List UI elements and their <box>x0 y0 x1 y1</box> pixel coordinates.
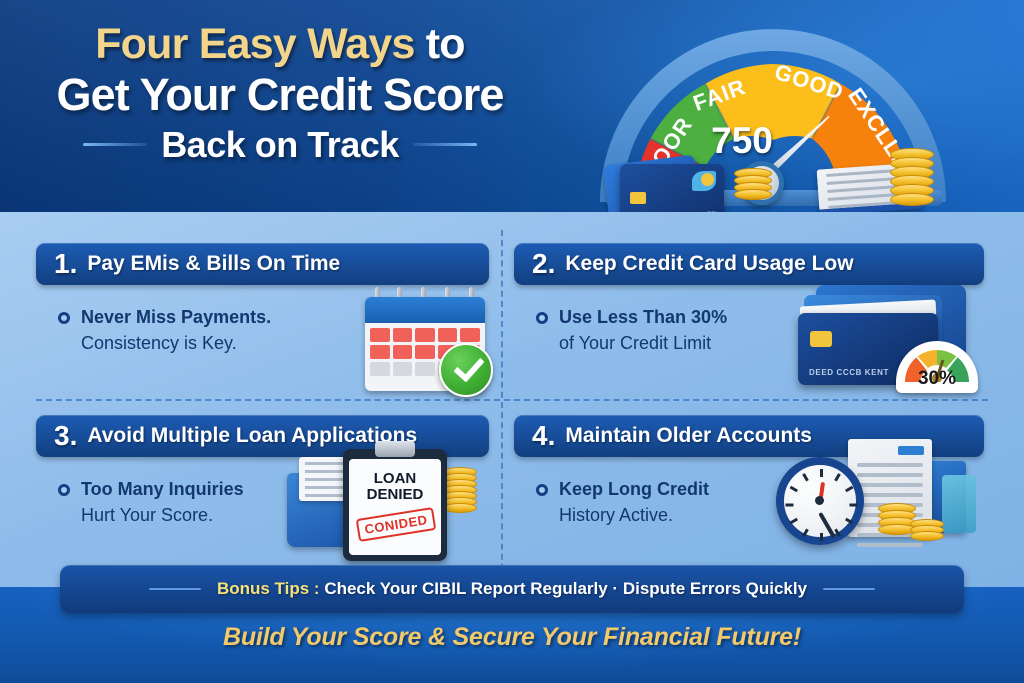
tip-card-2[interactable]: 2. Keep Credit Card Usage Low Use Less T… <box>514 243 984 393</box>
bullet-icon <box>536 484 548 496</box>
clock-icon <box>776 457 864 545</box>
bonus-rule-left-icon <box>149 588 201 590</box>
tip-3-body: Too Many Inquiries Hurt Your Score. <box>81 477 244 528</box>
clipboard-text: LOAN DENIED <box>349 471 441 503</box>
bullet-icon <box>58 484 70 496</box>
title-line-3-row: Back on Track <box>0 124 560 166</box>
card-chip-icon <box>630 192 646 204</box>
clipboard-sheet: LOAN DENIED CONIDED <box>349 459 441 555</box>
clock-center-icon <box>815 496 824 505</box>
header-banner: Four Easy Ways to Get Your Credit Score … <box>0 0 1024 212</box>
tip-4-body: Keep Long Credit History Active. <box>559 477 709 528</box>
tip-card-3[interactable]: 3. Avoid Multiple Loan Applications Too … <box>36 415 489 565</box>
tip-2-body-line2: of Your Credit Limit <box>559 333 711 353</box>
infographic-page: Four Easy Ways to Get Your Credit Score … <box>0 0 1024 683</box>
bonus-tips-label: Bonus Tips : <box>217 579 320 598</box>
credit-card-front-icon: CREDD CKT! E EIENT ‖‖ <box>620 164 724 212</box>
coin-stack-icon <box>443 471 477 513</box>
clipboard-line-1: LOAN <box>374 470 417 487</box>
page-title: Four Easy Ways to Get Your Credit Score … <box>0 22 560 166</box>
card-chip-icon <box>810 331 832 347</box>
bonus-tips-body: Check Your CIBIL Report Regularly · Disp… <box>324 579 807 598</box>
tip-1-number: 1. <box>54 250 77 278</box>
card-label: DEED CCCB KENT <box>809 368 889 377</box>
tip-4-body-line2: History Active. <box>559 505 673 525</box>
tip-card-4[interactable]: 4. Maintain Older Accounts Keep Long Cre… <box>514 415 984 565</box>
coin-stack-small-icon <box>910 523 944 541</box>
coin-stack-tall-icon <box>890 152 934 206</box>
divider-horizontal <box>36 399 988 401</box>
header-props: CREDD CKT! E EIENT ‖‖ <box>592 150 972 212</box>
checkmark-icon <box>439 343 493 397</box>
tip-2-number: 2. <box>532 250 555 278</box>
coin-stack-icon <box>734 172 772 200</box>
tip-4-body-line1: Keep Long Credit <box>559 479 709 499</box>
loan-denied-clipboard-icon: LOAN DENIED CONIDED <box>287 441 473 565</box>
usage-gauge-badge: 30% <box>896 341 978 393</box>
card-dot-icon <box>701 173 714 186</box>
bullet-icon <box>536 312 548 324</box>
title-rule-left-icon <box>83 143 147 146</box>
calendar-icon <box>361 287 489 391</box>
tip-1-header: 1. Pay EMis & Bills On Time <box>36 243 489 285</box>
tagline: Build Your Score & Secure Your Financial… <box>0 623 1024 652</box>
tip-1-heading: Pay EMis & Bills On Time <box>87 252 340 276</box>
card-network-icon: ‖‖ <box>707 210 716 212</box>
folder-secondary-icon <box>942 475 976 533</box>
tip-2-body: Use Less Than 30% of Your Credit Limit <box>559 305 727 356</box>
usage-percent-label: 30% <box>896 368 978 390</box>
clipboard-clip-icon <box>375 441 415 457</box>
title-rule-right-icon <box>413 143 477 146</box>
calendar-header-icon <box>365 297 485 323</box>
tip-3-body-line2: Hurt Your Score. <box>81 505 213 525</box>
clipboard-icon: LOAN DENIED CONIDED <box>343 449 447 561</box>
bonus-tips-text: Bonus Tips : Check Your CIBIL Report Reg… <box>217 579 807 599</box>
tip-card-1[interactable]: 1. Pay EMis & Bills On Time Never Miss P… <box>36 243 489 393</box>
divider-vertical <box>501 230 503 580</box>
bonus-rule-right-icon <box>823 588 875 590</box>
tip-3-number: 3. <box>54 422 77 450</box>
tip-1-body: Never Miss Payments. Consistency is Key. <box>81 305 271 356</box>
tip-1-body-line2: Consistency is Key. <box>81 333 237 353</box>
title-line-3: Back on Track <box>161 124 399 166</box>
clipboard-line-2: DENIED <box>367 486 424 503</box>
tip-3-body-line1: Too Many Inquiries <box>81 479 244 499</box>
title-line-1: Four Easy Ways to <box>0 22 560 68</box>
title-line-1-suffix: to <box>426 20 465 68</box>
tip-4-number: 4. <box>532 422 555 450</box>
bonus-tips-banner: Bonus Tips : Check Your CIBIL Report Reg… <box>60 565 964 613</box>
tip-1-body-line1: Never Miss Payments. <box>81 307 271 327</box>
credit-cards-icon: DEED CCCB KENT 30% <box>798 283 970 393</box>
title-highlight: Four Easy Ways <box>95 20 414 68</box>
document-tag-icon <box>898 446 924 455</box>
bullet-icon <box>58 312 70 324</box>
tip-2-heading: Keep Credit Card Usage Low <box>565 252 853 276</box>
tip-2-body-line1: Use Less Than 30% <box>559 307 727 327</box>
title-line-2: Get Your Credit Score <box>0 70 560 120</box>
tip-2-header: 2. Keep Credit Card Usage Low <box>514 243 984 285</box>
denied-stamp: CONIDED <box>356 507 437 542</box>
clock-documents-icon <box>774 437 974 565</box>
